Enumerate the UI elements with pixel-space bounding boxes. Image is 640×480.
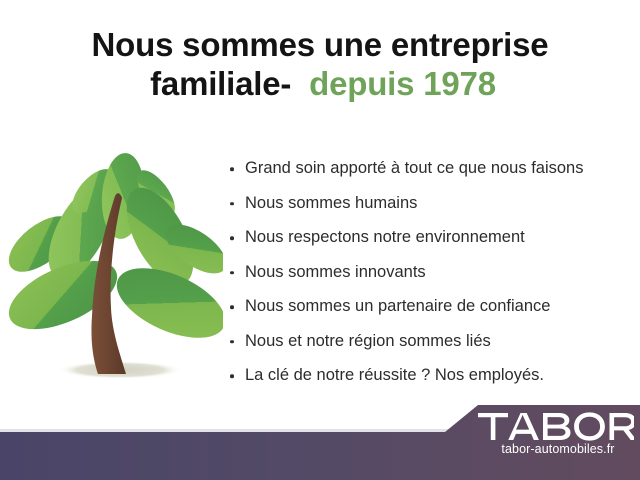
bullet-dot-icon	[230, 306, 234, 310]
title-dash: -	[280, 65, 291, 102]
list-item-label: Nous respectons notre environnement	[228, 228, 525, 248]
list-item-label: Nous sommes innovants	[228, 263, 426, 283]
title-line-1: Nous sommes une entreprise	[0, 26, 640, 65]
brand-logo[interactable]: tabor-automobiles.fr	[478, 412, 638, 456]
list-item: Nous respectons notre environnement	[228, 221, 628, 256]
list-item: La clé de notre réussite ? Nos employés.	[228, 359, 628, 394]
list-item-label: Nous sommes un partenaire de confiance	[228, 297, 550, 317]
bullet-dot-icon	[230, 375, 234, 379]
title-line-2-prefix: familiale	[150, 65, 280, 102]
title-line-2: familiale- depuis 1978	[0, 65, 640, 104]
tabor-wordmark-icon	[478, 412, 634, 441]
bullet-dot-icon	[230, 168, 234, 172]
list-item: Nous sommes un partenaire de confiance	[228, 290, 628, 325]
bullet-dot-icon	[230, 237, 234, 241]
brand-tagline: tabor-automobiles.fr	[478, 442, 638, 456]
benefits-list: Grand soin apporté à tout ce que nous fa…	[228, 152, 628, 394]
list-item-label: Nous et notre région sommes liés	[228, 332, 491, 352]
list-item-label: Nous sommes humains	[228, 194, 417, 214]
list-item: Nous et notre région sommes liés	[228, 325, 628, 360]
bullet-dot-icon	[230, 202, 234, 206]
list-item: Grand soin apporté à tout ce que nous fa…	[228, 152, 628, 187]
bullet-dot-icon	[230, 340, 234, 344]
slide-canvas: Nous sommes une entreprise familiale- de…	[0, 0, 640, 480]
list-item: Nous sommes innovants	[228, 256, 628, 291]
tree-illustration	[8, 148, 223, 393]
page-title: Nous sommes une entreprise familiale- de…	[0, 26, 640, 104]
list-item-label: La clé de notre réussite ? Nos employés.	[228, 366, 544, 386]
bullet-dot-icon	[230, 271, 234, 275]
title-accent-depuis: depuis 1978	[309, 65, 496, 102]
list-item: Nous sommes humains	[228, 187, 628, 222]
list-item-label: Grand soin apporté à tout ce que nous fa…	[228, 159, 583, 179]
